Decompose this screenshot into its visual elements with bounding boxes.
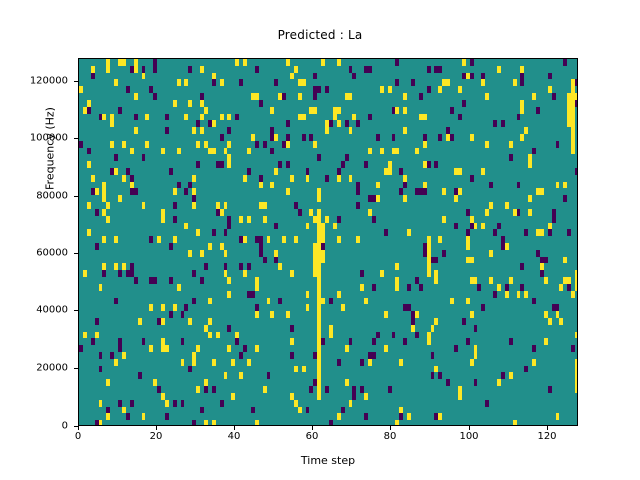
ytick-mark-40000 [74, 310, 78, 311]
heatmap-image [79, 59, 578, 426]
ytick-label-100000: 100000 [6, 133, 68, 144]
xtick-label-120: 120 [517, 431, 577, 442]
ytick-label-20000: 20000 [6, 363, 68, 374]
ytick-mark-60000 [74, 253, 78, 254]
ytick-mark-100000 [74, 138, 78, 139]
xtick-label-100: 100 [439, 431, 499, 442]
xtick-label-60: 60 [282, 431, 342, 442]
ytick-mark-120000 [74, 81, 78, 82]
xtick-mark-100 [469, 426, 470, 430]
ytick-label-40000: 40000 [6, 305, 68, 316]
page-title: Predicted : La [0, 28, 640, 42]
ytick-label-80000: 80000 [6, 191, 68, 202]
xtick-mark-60 [312, 426, 313, 430]
xtick-mark-120 [547, 426, 548, 430]
y-axis-label: Frequency (Hz) [44, 49, 57, 249]
xtick-mark-40 [234, 426, 235, 430]
ytick-label-0: 0 [6, 421, 68, 432]
xtick-label-20: 20 [126, 431, 186, 442]
ytick-label-120000: 120000 [6, 76, 68, 87]
heatmap-axes [78, 58, 578, 426]
ytick-mark-20000 [74, 368, 78, 369]
ytick-label-60000: 60000 [6, 248, 68, 259]
ytick-mark-80000 [74, 196, 78, 197]
xtick-label-0: 0 [48, 431, 108, 442]
xtick-mark-0 [78, 426, 79, 430]
xtick-label-40: 40 [204, 431, 264, 442]
xtick-mark-80 [390, 426, 391, 430]
xtick-label-80: 80 [360, 431, 420, 442]
x-axis-label: Time step [78, 454, 578, 467]
xtick-mark-20 [156, 426, 157, 430]
matplotlib-figure: Predicted : La 0 20000 40000 60000 80000… [0, 0, 640, 480]
